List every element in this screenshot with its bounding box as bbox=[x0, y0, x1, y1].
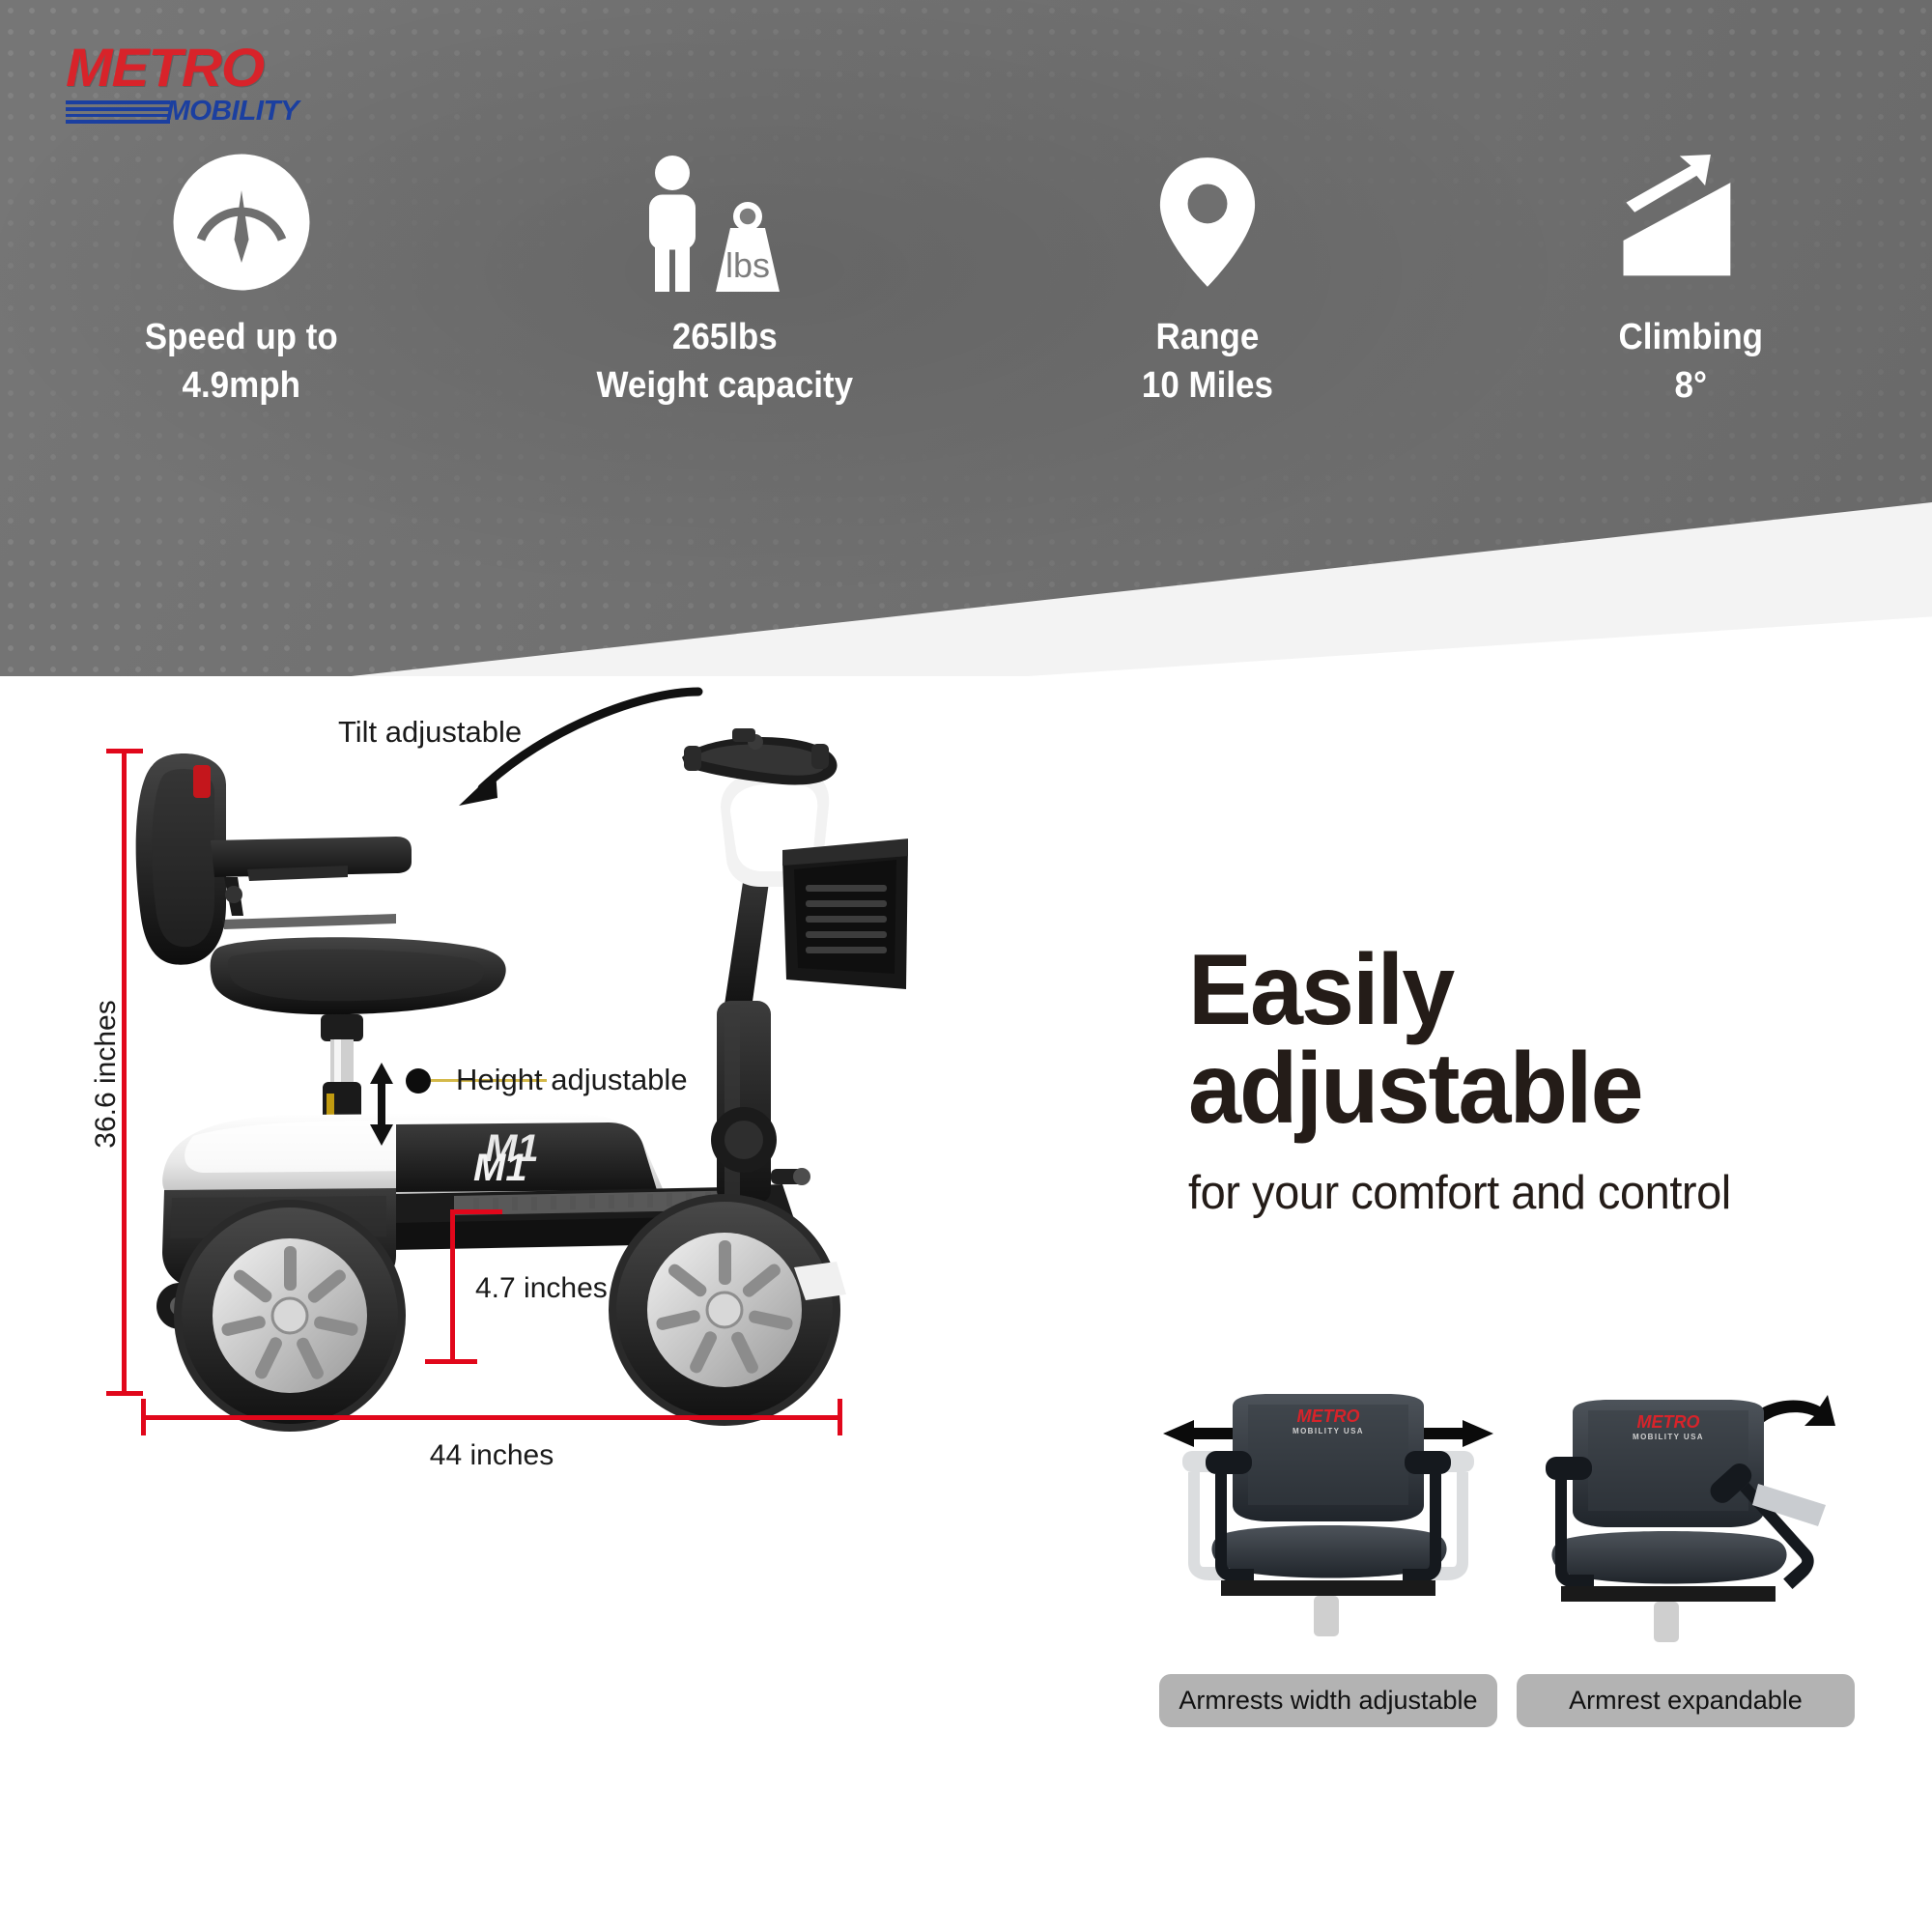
seat-badge-metro-2: METRO bbox=[1637, 1412, 1700, 1432]
height-double-arrow-icon bbox=[365, 1061, 398, 1148]
seat-badge-mobility: MOBILITY USA bbox=[1293, 1427, 1364, 1435]
length-dim-line bbox=[141, 1415, 842, 1420]
seat-thumbnail-expandable: METRO MOBILITY USA Armrest expandable bbox=[1517, 1391, 1855, 1727]
height-dim-cap-top bbox=[106, 749, 143, 753]
seat-width-illustration: METRO MOBILITY USA bbox=[1159, 1391, 1497, 1662]
height-callout-dot bbox=[406, 1068, 431, 1094]
brand-logo: METRO MOBILITY bbox=[66, 41, 336, 128]
logo-mobility-text: MOBILITY bbox=[166, 98, 298, 126]
headline-subtitle: for your comfort and control bbox=[1188, 1168, 1893, 1220]
seat-caption-expandable: Armrest expandable bbox=[1517, 1674, 1855, 1727]
dim-label-clearance: 4.7 inches bbox=[475, 1272, 608, 1305]
feature-weight: lbs 265lbs Weight capacity bbox=[483, 145, 966, 435]
annotation-height-adjustable: Height adjustable bbox=[456, 1063, 688, 1097]
incline-arrow-icon bbox=[1606, 145, 1776, 299]
logo-metro-text: METRO bbox=[66, 41, 347, 95]
feature-speed: Speed up to 4.9mph bbox=[0, 145, 483, 435]
map-pin-icon bbox=[1135, 145, 1280, 299]
clearance-dim-cap-bottom bbox=[425, 1359, 477, 1364]
lower-section: Easily adjustable for your comfort and c… bbox=[0, 676, 1932, 1932]
seat-caption-width: Armrests width adjustable bbox=[1159, 1674, 1497, 1727]
length-dim-cap-left bbox=[141, 1399, 146, 1435]
headline-line-1: Easily bbox=[1188, 942, 1886, 1040]
dim-label-height: 36.6 inches bbox=[90, 978, 123, 1171]
clearance-dim-line bbox=[450, 1209, 455, 1364]
length-dim-cap-right bbox=[838, 1399, 842, 1435]
seat-thumbnail-width: METRO MOBILITY USA Armrests width adjust… bbox=[1159, 1391, 1497, 1727]
weight-unit-label: lbs bbox=[725, 245, 770, 285]
height-dim-cap-bottom bbox=[106, 1391, 143, 1396]
feature-range: Range 10 Miles bbox=[966, 145, 1449, 435]
feature-climbing: Climbing 8° bbox=[1449, 145, 1932, 435]
arrow-left-icon bbox=[1163, 1420, 1240, 1447]
headline-block: Easily adjustable for your comfort and c… bbox=[1188, 942, 1922, 1220]
feature-climbing-label: Climbing 8° bbox=[1618, 313, 1763, 410]
arrow-right-icon bbox=[1416, 1420, 1493, 1447]
feature-range-label: Range 10 Miles bbox=[1142, 313, 1273, 410]
headline-line-2: adjustable bbox=[1188, 1040, 1886, 1139]
seat-badge-mobility-2: MOBILITY USA bbox=[1633, 1433, 1704, 1441]
dim-label-length: 44 inches bbox=[141, 1439, 842, 1472]
scooter-diagram: M1 M1 bbox=[0, 676, 1140, 1932]
feature-weight-label: 265lbs Weight capacity bbox=[596, 313, 853, 410]
seat-badge-metro: METRO bbox=[1297, 1406, 1360, 1426]
logo-stripes bbox=[66, 100, 170, 126]
feature-speed-label: Speed up to 4.9mph bbox=[145, 313, 338, 410]
person-weight-icon: lbs bbox=[623, 145, 826, 299]
speedometer-icon bbox=[169, 145, 314, 299]
clearance-dim-cap-top bbox=[450, 1209, 502, 1214]
svg-text:M1: M1 bbox=[473, 1147, 527, 1189]
seat-expandable-illustration: METRO MOBILITY USA bbox=[1517, 1391, 1855, 1662]
annotation-tilt-adjustable: Tilt adjustable bbox=[338, 715, 522, 750]
feature-row: Speed up to 4.9mph lbs 265lbs Weight cap… bbox=[0, 145, 1932, 435]
